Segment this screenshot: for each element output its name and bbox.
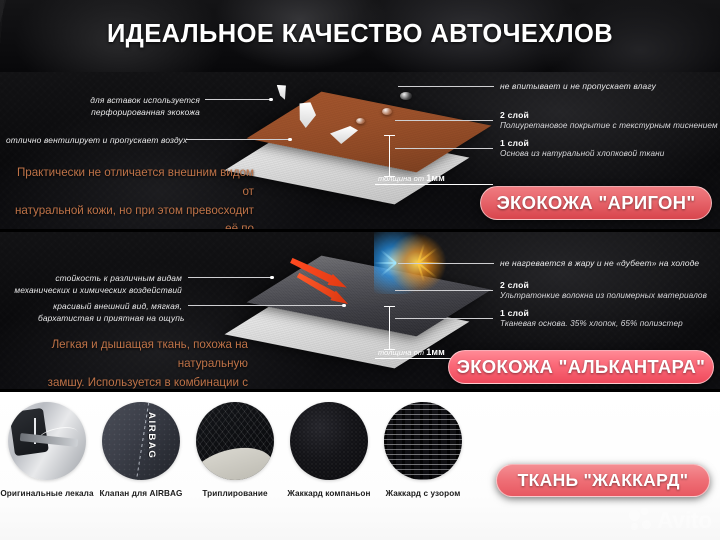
- badge-alcantara: ЭКОКОЖА "АЛЬКАНТАРА": [448, 350, 714, 384]
- thickness-prefix: толщина от: [378, 174, 426, 183]
- tripling-foam-icon: [196, 402, 274, 480]
- layer-2-title: 2 слой: [500, 110, 718, 120]
- callout-resistance-line2: механических и химических воздействий: [10, 284, 182, 297]
- summary-line-1: Легкая и дышащая ткань, похожа на натура…: [4, 336, 248, 374]
- swatch-item-jacquard-pattern[interactable]: Жаккард с узором: [376, 402, 470, 498]
- callout-ventilation: отлично вентилирует и пропускает воздух: [6, 134, 181, 147]
- note-waterproof: не впитывает и не пропускает влагу: [500, 81, 656, 91]
- swatch-item-tripling[interactable]: Триплирование: [188, 402, 282, 498]
- water-drop-icon: [382, 108, 392, 115]
- layer-1-desc: Тканевая основа. 35% хлопок, 65% полиэст…: [500, 319, 683, 328]
- leader-line: [188, 277, 272, 278]
- badge-arigon: ЭКОКОЖА "АРИГОН": [480, 186, 712, 220]
- summary-paragraph-alcantara: Легкая и дышащая ткань, похожа на натура…: [4, 336, 248, 392]
- knit-texture: [290, 402, 368, 480]
- leader-line: [398, 86, 494, 87]
- infographic-poster: ИДЕАЛЬНОЕ КАЧЕСТВО АВТОЧЕХЛОВ для вставо…: [0, 0, 720, 540]
- leader-line: [186, 139, 290, 140]
- swatch-list: Оригинальные лекала AIRBAG Клапан для AI…: [0, 402, 470, 498]
- features-strip: Оригинальные лекала AIRBAG Клапан для AI…: [0, 392, 720, 540]
- panel-divider-2: [0, 389, 720, 392]
- swatch-label: Триплирование: [202, 489, 267, 498]
- leader-line: [395, 290, 493, 291]
- swatch-label: Клапан для AIRBAG: [100, 489, 183, 498]
- avito-dot: [631, 523, 638, 530]
- summary-paragraph-arigon: Практически не отличается внешним видом …: [10, 164, 254, 232]
- panel-ecoleather-alcantara: стойкость к различным видам механических…: [0, 232, 720, 392]
- panel-ecoleather-arigon: для вставок используется перфорированная…: [0, 72, 720, 232]
- layer-2-title: 2 слой: [500, 280, 707, 290]
- air-arrow-icon: [277, 83, 289, 100]
- layer-1-block: 1 слой Тканевая основа. 35% хлопок, 65% …: [500, 308, 683, 328]
- page-title: ИДЕАЛЬНОЕ КАЧЕСТВО АВТОЧЕХЛОВ: [0, 20, 720, 49]
- leader-line: [398, 263, 494, 264]
- note-temperature: не нагревается в жару и не «дубеет» на х…: [500, 258, 699, 268]
- thickness-cap-top: [384, 135, 395, 136]
- swatch-label: Жаккард с узором: [386, 489, 461, 498]
- thickness-label: толщина от 1мм: [378, 347, 445, 357]
- leader-line: [395, 318, 493, 319]
- callout-appearance-line2: бархатистая и приятная на ощупь: [38, 312, 182, 325]
- layer-2-block: 2 слой Ультратонкие волокна из полимерны…: [500, 280, 707, 300]
- swatch-item-jacquard-companion[interactable]: Жаккард компаньон: [282, 402, 376, 498]
- thickness-value: 1мм: [426, 347, 445, 357]
- layer-2-desc: Полиуретановое покрытие с текстурным тис…: [500, 121, 718, 130]
- thickness-prefix: толщина от: [378, 348, 426, 357]
- header-banner: ИДЕАЛЬНОЕ КАЧЕСТВО АВТОЧЕХЛОВ: [0, 0, 720, 72]
- airbag-flap-icon: AIRBAG: [102, 402, 180, 480]
- panel-divider-1: [0, 229, 720, 232]
- swatch-label: Жаккард компаньон: [287, 489, 370, 498]
- layer-1-desc: Основа из натуральной хлопковой ткани: [500, 149, 664, 158]
- avito-dot: [629, 510, 640, 521]
- avito-logo-icon: [629, 508, 655, 534]
- thickness-vertical-rule: [389, 306, 390, 350]
- pattern-texture: [384, 402, 462, 480]
- leader-dot: [270, 276, 274, 280]
- layer-1-title: 1 слой: [500, 138, 664, 148]
- frost-ray: [380, 262, 397, 276]
- badge-jacquard: ТКАНЬ "ЖАККАРД": [496, 464, 710, 497]
- leader-dot: [269, 98, 273, 102]
- airbag-text: AIRBAG: [146, 412, 157, 459]
- avito-dot: [642, 520, 651, 529]
- thickness-underline: [375, 184, 493, 185]
- water-drop-icon: [400, 92, 412, 100]
- leader-line: [395, 120, 493, 121]
- layer-1-title: 1 слой: [500, 308, 683, 318]
- layer-2-block: 2 слой Полиуретановое покрытие с текстур…: [500, 110, 718, 130]
- sewing-machine-icon: [8, 402, 86, 480]
- avito-dot: [641, 508, 648, 515]
- thickness-vertical-rule: [389, 135, 390, 177]
- avito-watermark: Avito: [629, 507, 712, 534]
- callout-perforated-line1: для вставок используется: [48, 94, 200, 107]
- layer-2-desc: Ультратонкие волокна из полимерных матер…: [500, 291, 707, 300]
- layer-diagram-alcantara: [232, 240, 462, 380]
- swatch-item-airbag[interactable]: AIRBAG Клапан для AIRBAG: [94, 402, 188, 498]
- swatch-label: Оригинальные лекала: [0, 489, 93, 498]
- layer-1-block: 1 слой Основа из натуральной хлопковой т…: [500, 138, 664, 158]
- summary-line-1: Практически не отличается внешним видом …: [10, 164, 254, 202]
- callout-resistance-line1: стойкость к различным видам: [40, 272, 182, 285]
- water-drop-icon: [356, 118, 365, 124]
- leader-line: [205, 99, 271, 100]
- swatch-item-patterns[interactable]: Оригинальные лекала: [0, 402, 94, 498]
- summary-line-2: натуральной кожи, но при этом превосходи…: [10, 202, 254, 232]
- callout-appearance-line1: красивый внешний вид, мягкая,: [44, 300, 182, 313]
- leader-line: [188, 305, 344, 306]
- needle-part: [34, 418, 36, 444]
- leader-line: [395, 148, 493, 149]
- thread-part: [37, 424, 79, 448]
- thickness-label: толщина от 1мм: [378, 173, 445, 183]
- leader-dot: [288, 138, 292, 142]
- thickness-value: 1мм: [426, 173, 445, 183]
- thickness-cap-top: [384, 306, 395, 307]
- callout-perforated-line2: перфорированная экокожа: [48, 106, 200, 119]
- jacquard-companion-icon: [290, 402, 368, 480]
- jacquard-pattern-icon: [384, 402, 462, 480]
- leader-dot: [342, 304, 346, 308]
- avito-wordmark: Avito: [657, 507, 712, 534]
